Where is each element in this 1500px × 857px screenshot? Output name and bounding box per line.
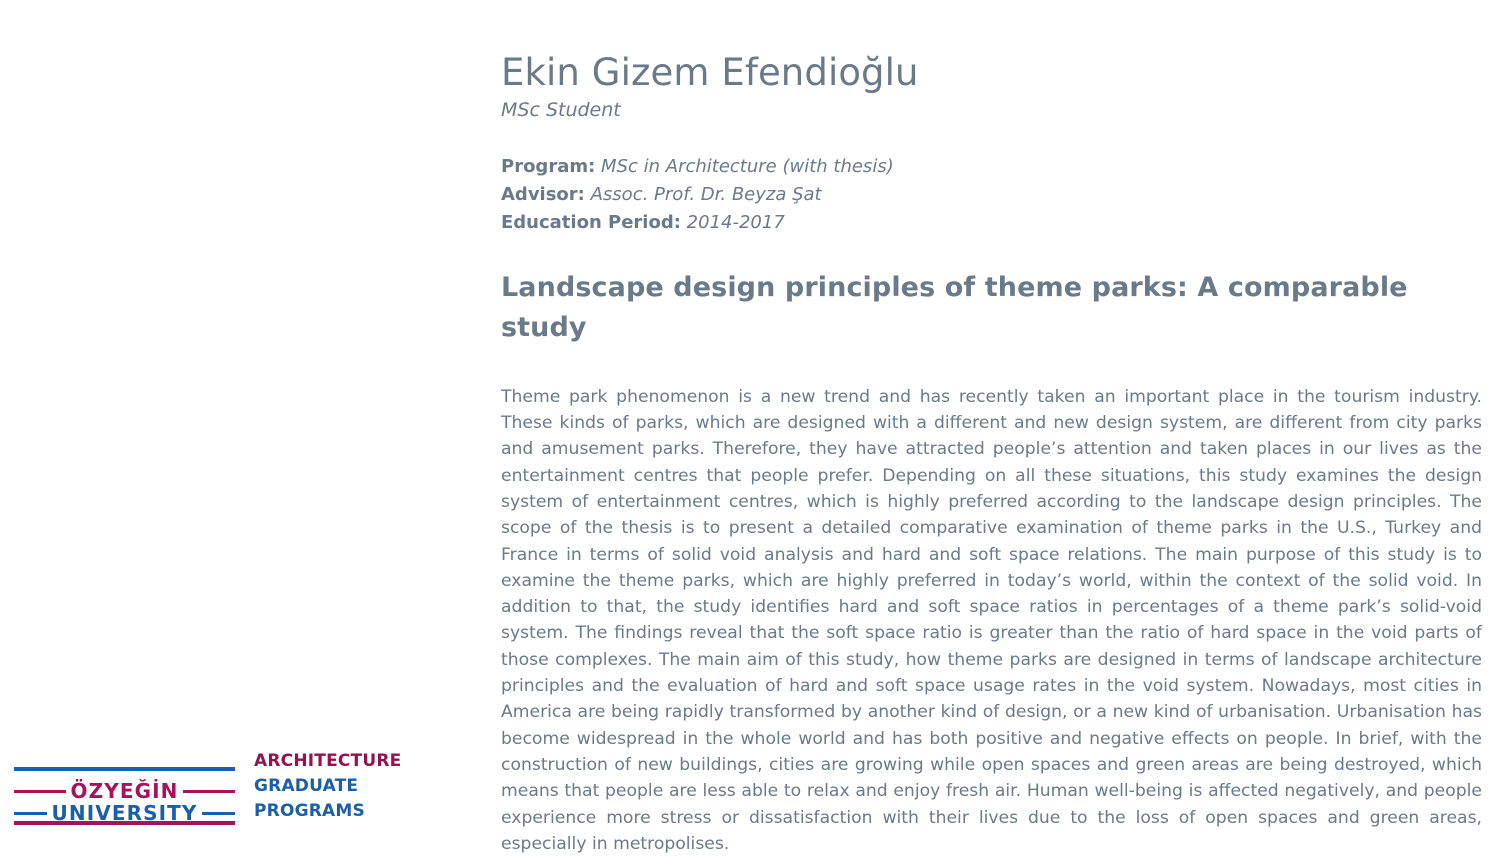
logo-left-bar-blue xyxy=(14,812,47,815)
metadata-value-education-period: 2014-2017 xyxy=(687,212,785,233)
program-wordmark: ARCHITECTURE GRADUATE PROGRAMS xyxy=(254,749,401,825)
logo-top-rule xyxy=(14,767,235,771)
metadata-label-advisor: Advisor: xyxy=(501,184,585,205)
logo-wordmark-university: UNIVERSITY xyxy=(47,803,203,823)
metadata-value-program: MSc in Architecture (with thesis) xyxy=(601,156,894,177)
program-wordmark-programs: PROGRAMS xyxy=(254,799,401,824)
metadata-row-advisor: Advisor: Assoc. Prof. Dr. Beyza Şat xyxy=(501,181,1482,209)
logo-bottom-rule xyxy=(14,821,235,825)
metadata-label-education-period: Education Period: xyxy=(501,212,681,233)
logo-right-bar-blue xyxy=(202,812,235,815)
thesis-title: Landscape design principles of theme par… xyxy=(501,237,1436,348)
logo-right-bar-crimson xyxy=(183,790,235,793)
student-role: MSc Student xyxy=(501,93,1482,122)
student-metadata: Program: MSc in Architecture (with thesi… xyxy=(501,122,1482,237)
footer-branding: ÖZYEĞİN UNIVERSITY ARCHITECTURE GRADUATE… xyxy=(14,749,401,825)
thesis-abstract: Theme park phenomenon is a new trend and… xyxy=(501,348,1482,857)
student-profile-panel: Ekin Gizem Efendioğlu MSc Student Progra… xyxy=(501,0,1482,844)
logo-line-university: UNIVERSITY xyxy=(14,803,235,823)
student-name: Ekin Gizem Efendioğlu xyxy=(501,0,1482,93)
metadata-row-education-period: Education Period: 2014-2017 xyxy=(501,209,1482,237)
logo-left-bar-crimson xyxy=(14,790,66,793)
program-wordmark-architecture: ARCHITECTURE xyxy=(254,749,401,774)
program-wordmark-graduate: GRADUATE xyxy=(254,774,401,799)
metadata-value-advisor: Assoc. Prof. Dr. Beyza Şat xyxy=(591,184,822,205)
metadata-label-program: Program: xyxy=(501,156,595,177)
ozyegin-university-logo: ÖZYEĞİN UNIVERSITY xyxy=(14,767,235,825)
logo-line-ozyegin: ÖZYEĞİN xyxy=(14,781,235,801)
logo-wordmark-ozyegin: ÖZYEĞİN xyxy=(66,781,184,801)
metadata-row-program: Program: MSc in Architecture (with thesi… xyxy=(501,153,1482,181)
